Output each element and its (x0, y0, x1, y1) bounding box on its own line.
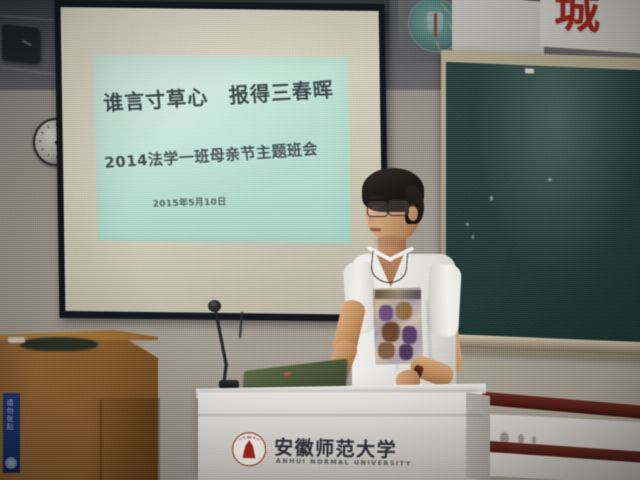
nose (369, 215, 376, 223)
blackboard-surface (446, 62, 640, 348)
lectern-dark-object (20, 337, 98, 351)
sticker-label-text: 请勿张贴 (6, 399, 14, 431)
eyeglasses-bridge (385, 204, 390, 206)
chalk-mark (548, 178, 552, 181)
print-detail (378, 342, 395, 359)
print-detail (402, 326, 417, 344)
projection-screen-surface: 谁言寸草心 报得三春晖 2014法学一班母亲节主题班会 2015年5月10日 (61, 7, 384, 315)
blue-label-sticker: 请勿张贴 (3, 393, 20, 473)
red-character-poster: 城 (540, 0, 640, 54)
clock-tick (47, 125, 50, 128)
chalk-mark (472, 235, 474, 239)
red-character-glyph: 城 (554, 0, 600, 43)
projection-screen: 谁言寸草心 报得三春晖 2014法学一班母亲节主题班会 2015年5月10日 (54, 0, 389, 322)
podium-university-logo: 安徽师范大学 ANHUI NORMAL UNIVERSITY (232, 430, 433, 478)
clock-tick (47, 154, 50, 157)
lectern-paper-sheet (8, 337, 25, 343)
tshirt-graphic-top-band (375, 290, 421, 299)
clock-tick (39, 140, 42, 141)
sticker-seal-icon (5, 457, 17, 469)
clock-tick (41, 148, 44, 151)
blackboard (441, 50, 640, 361)
clock-tick (41, 131, 44, 134)
slide-date: 2015年5月10日 (152, 194, 227, 209)
print-detail (379, 305, 393, 321)
classroom-photo: 城 (0, 0, 640, 480)
chalk-mark (466, 223, 469, 226)
blackboard-texture (446, 62, 640, 348)
university-name-en: ANHUI NORMAL UNIVERSITY (276, 457, 412, 468)
jaw-shadow (374, 236, 406, 248)
lectern-panel-seam (100, 400, 102, 480)
rail-hole (532, 436, 536, 444)
print-detail (399, 344, 413, 360)
right-sleeve (426, 263, 462, 337)
university-emblem-icon (232, 432, 267, 467)
chalk-mark (490, 196, 493, 201)
presentation-slide: 谁言寸草心 报得三春晖 2014法学一班母亲节主题班会 2015年5月10日 (94, 54, 351, 243)
lectern-side-shadow (88, 398, 160, 480)
wall-speaker-icon (2, 24, 40, 64)
emblem-center-bar (434, 13, 437, 37)
podium-edge-line (198, 414, 482, 416)
blackboard-clip (525, 68, 534, 73)
podium-right-face (466, 392, 490, 480)
ear (408, 206, 418, 221)
